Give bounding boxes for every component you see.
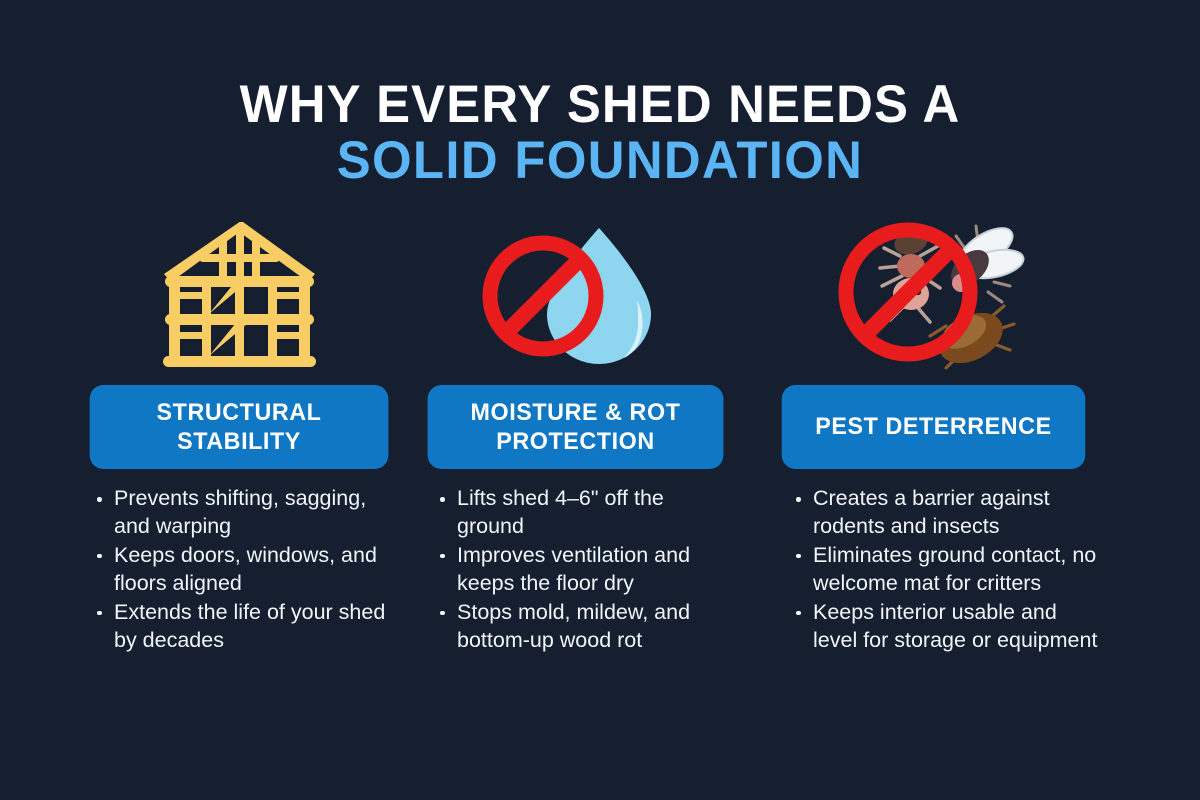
timber-frame-house-icon xyxy=(85,210,393,375)
list-item: Keeps interior usable and level for stor… xyxy=(792,599,1100,655)
list-item: Creates a barrier against rodents and in… xyxy=(792,485,1100,541)
title-line-accent: SOLID FOUNDATION xyxy=(24,132,1176,189)
page-title: WHY EVERY SHED NEEDS A SOLID FOUNDATION xyxy=(0,78,1200,189)
benefit-heading-structural-stability: STRUCTURAL STABILITY xyxy=(90,385,389,469)
benefit-column-pest-deterrence: PEST DETERRENCE Creates a barrier agains… xyxy=(772,210,1200,770)
list-item: Eliminates ground contact, no welcome ma… xyxy=(792,542,1100,598)
title-line-primary: WHY EVERY SHED NEEDS A xyxy=(24,78,1176,132)
list-item: Stops mold, mildew, and bottom-up wood r… xyxy=(436,599,736,655)
benefit-list-moisture-rot-protection: Lifts shed 4–6" off the ground Improves … xyxy=(436,485,736,655)
benefit-column-moisture-rot-protection: MOISTURE & ROT PROTECTION Lifts shed 4–6… xyxy=(400,210,772,770)
list-item: Prevents shifting, sagging, and warping xyxy=(93,485,393,541)
no-pests-icon xyxy=(772,210,1085,375)
no-water-droplet-icon xyxy=(423,210,728,375)
benefit-list-pest-deterrence: Creates a barrier against rodents and in… xyxy=(792,485,1100,655)
benefit-heading-pest-deterrence: PEST DETERRENCE xyxy=(782,385,1086,469)
benefit-column-structural-stability: STRUCTURAL STABILITY Prevents shifting, … xyxy=(0,210,400,770)
infographic-page: { "theme": { "background": "#151f30", "a… xyxy=(0,0,1200,800)
list-item: Lifts shed 4–6" off the ground xyxy=(436,485,736,541)
benefits-columns: STRUCTURAL STABILITY Prevents shifting, … xyxy=(0,210,1200,770)
list-item: Keeps doors, windows, and floors aligned xyxy=(93,542,393,598)
benefit-list-structural-stability: Prevents shifting, sagging, and warping … xyxy=(93,485,393,655)
list-item: Extends the life of your shed by decades xyxy=(93,599,393,655)
list-item: Improves ventilation and keeps the floor… xyxy=(436,542,736,598)
benefit-heading-moisture-rot-protection: MOISTURE & ROT PROTECTION xyxy=(428,385,724,469)
